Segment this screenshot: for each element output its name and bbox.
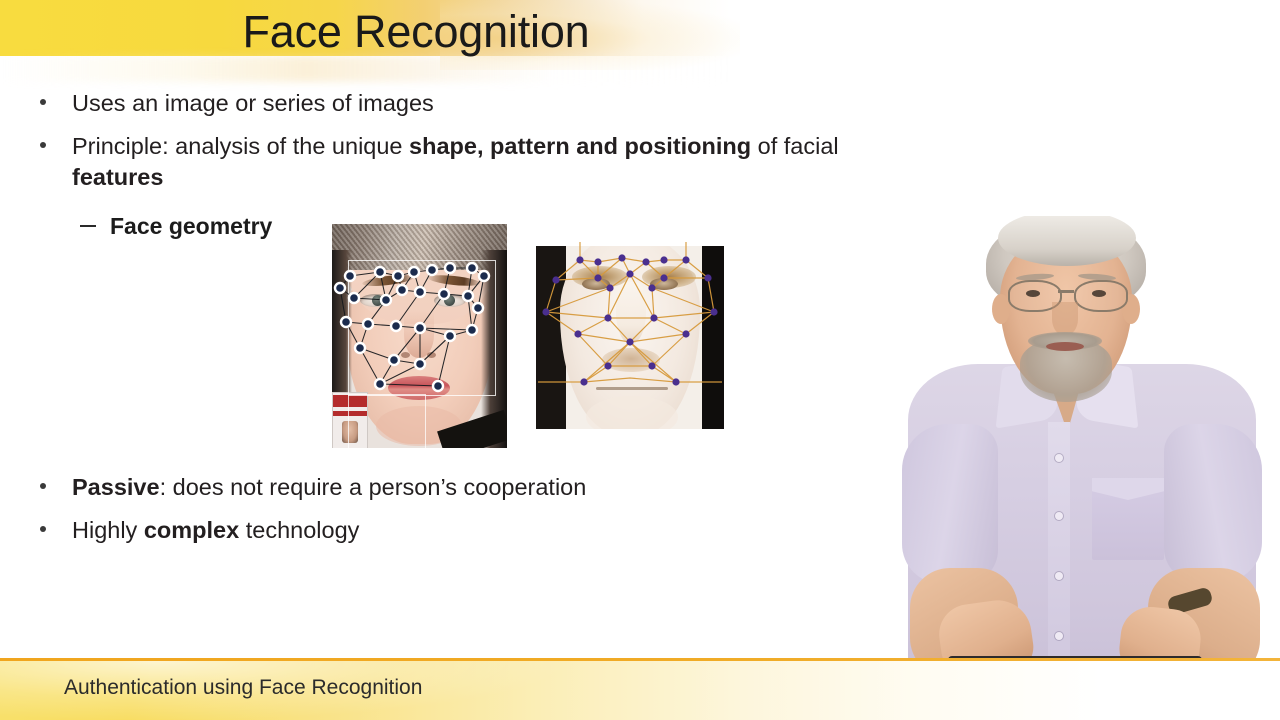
list-item: Highly complex technology — [0, 515, 880, 546]
list-item: Passive: does not require a person’s coo… — [0, 472, 880, 503]
page-title: Face Recognition — [0, 6, 832, 58]
presenter-shirt-button — [1055, 454, 1063, 462]
bullet-dot-icon — [40, 483, 46, 489]
dash-marker-icon — [80, 225, 96, 227]
title-banner-fade — [0, 56, 730, 82]
list-item-label: Passive: does not require a person’s coo… — [72, 474, 586, 500]
bullet-dot-icon — [40, 99, 46, 105]
footer-label: Authentication using Face Recognition — [64, 676, 422, 700]
list-item-label: Highly complex technology — [72, 517, 359, 543]
presenter-glasses-bridge — [1058, 290, 1074, 293]
bullet-list-top: Uses an image or series of images Princi… — [0, 82, 880, 241]
presenter-sleeve-left — [902, 424, 998, 584]
presenter-mouth — [1046, 342, 1084, 351]
list-item: Principle: analysis of the unique shape,… — [0, 131, 880, 193]
slide-root: Face Recognition Uses an image or series… — [0, 0, 1280, 720]
presenter-shirt-button — [1055, 572, 1063, 580]
mesh-graph-overlay: [data-name="mesh-nodes"] circle{fill:#4a… — [536, 230, 724, 441]
presenter-nose — [1052, 302, 1078, 336]
list-item-label: Principle: analysis of the unique shape,… — [72, 133, 839, 190]
presenter-shirt-button — [1055, 512, 1063, 520]
list-item-label: Uses an image or series of images — [72, 90, 434, 116]
presenter-glasses-right-lens — [1074, 280, 1128, 312]
bullet-dot-icon — [40, 526, 46, 532]
list-item: Uses an image or series of images — [0, 88, 880, 119]
presenter-video — [880, 216, 1280, 720]
landmark-graph-overlay: [data-name="landmark-nodes"] circle{fill… — [332, 224, 507, 448]
footer-divider-line — [0, 658, 1280, 661]
figure-face-mesh: [data-name="mesh-nodes"] circle{fill:#4a… — [536, 230, 724, 441]
bullet-dot-icon — [40, 142, 46, 148]
presenter-shirt-button — [1055, 632, 1063, 640]
sub-list-item-label: Face geometry — [110, 213, 272, 239]
figure-face-landmarks: [data-name="landmark-nodes"] circle{fill… — [332, 224, 507, 448]
bullet-list-bottom: Passive: does not require a person’s coo… — [0, 472, 880, 558]
presenter-sleeve-right — [1164, 424, 1262, 582]
